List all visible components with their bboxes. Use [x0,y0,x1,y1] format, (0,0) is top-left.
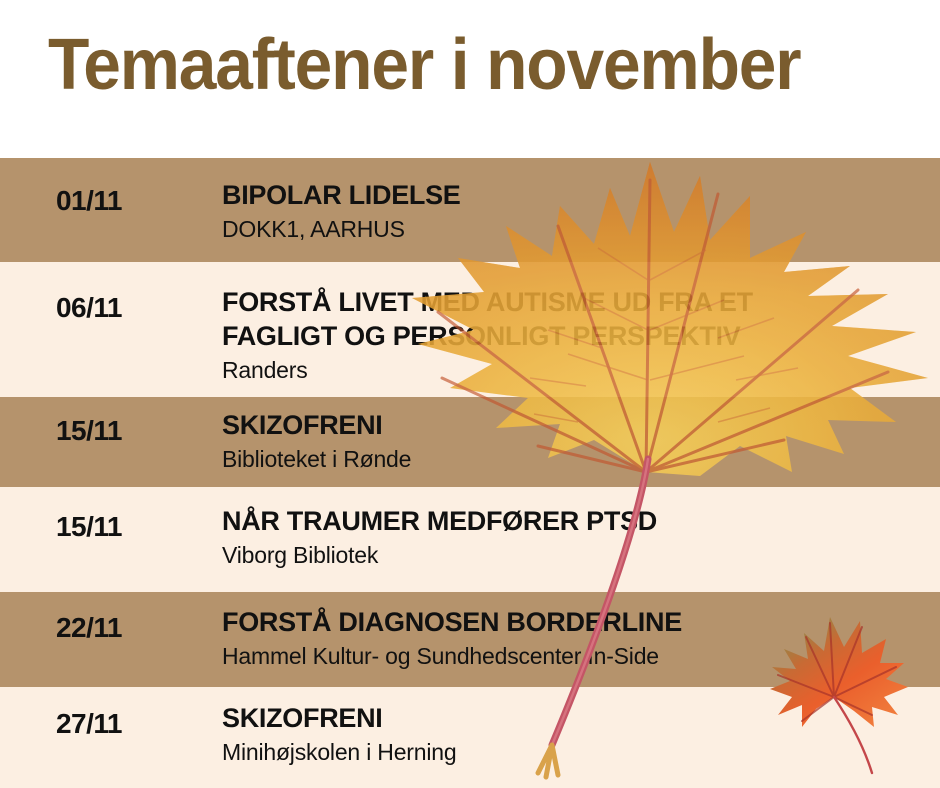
event-row: 15/11 SKIZOFRENI Biblioteket i Rønde [0,397,940,487]
event-title: NÅR TRAUMER MEDFØRER PTSD [222,504,930,538]
event-title: FORSTÅ LIVET MED AUTISME UD FRA ET FAGLI… [222,285,930,353]
event-details: SKIZOFRENI Biblioteket i Rønde [222,408,930,474]
event-row: 06/11 FORSTÅ LIVET MED AUTISME UD FRA ET… [0,262,940,397]
event-date: 22/11 [0,612,178,644]
page-title: Temaaftener i november [48,26,801,104]
event-row: 15/11 NÅR TRAUMER MEDFØRER PTSD Viborg B… [0,487,940,592]
event-venue: Randers [222,355,930,385]
event-title: FORSTÅ DIAGNOSEN BORDERLINE [222,605,930,639]
event-title: BIPOLAR LIDELSE [222,178,930,212]
event-date: 06/11 [0,292,178,324]
event-date: 15/11 [0,511,178,543]
event-details: NÅR TRAUMER MEDFØRER PTSD Viborg Bibliot… [222,504,930,570]
event-date: 01/11 [0,185,178,217]
event-venue: Viborg Bibliotek [222,540,930,570]
event-title: SKIZOFRENI [222,701,930,735]
event-row: 01/11 BIPOLAR LIDELSE DOKK1, AARHUS [0,158,940,262]
event-venue: Minihøjskolen i Herning [222,737,930,767]
event-row: 27/11 SKIZOFRENI Minihøjskolen i Herning [0,687,940,788]
event-date: 27/11 [0,708,178,740]
event-venue: DOKK1, AARHUS [222,214,930,244]
event-venue: Hammel Kultur- og Sundhedscenter In-Side [222,641,930,671]
event-details: FORSTÅ DIAGNOSEN BORDERLINE Hammel Kultu… [222,605,930,671]
event-details: SKIZOFRENI Minihøjskolen i Herning [222,701,930,767]
event-date: 15/11 [0,415,178,447]
event-row: 22/11 FORSTÅ DIAGNOSEN BORDERLINE Hammel… [0,592,940,687]
poster-header: Temaaftener i november [0,0,940,158]
event-title: SKIZOFRENI [222,408,930,442]
event-details: FORSTÅ LIVET MED AUTISME UD FRA ET FAGLI… [222,285,930,385]
poster-canvas: 01/11 BIPOLAR LIDELSE DOKK1, AARHUS 06/1… [0,0,940,788]
event-details: BIPOLAR LIDELSE DOKK1, AARHUS [222,178,930,244]
event-venue: Biblioteket i Rønde [222,444,930,474]
